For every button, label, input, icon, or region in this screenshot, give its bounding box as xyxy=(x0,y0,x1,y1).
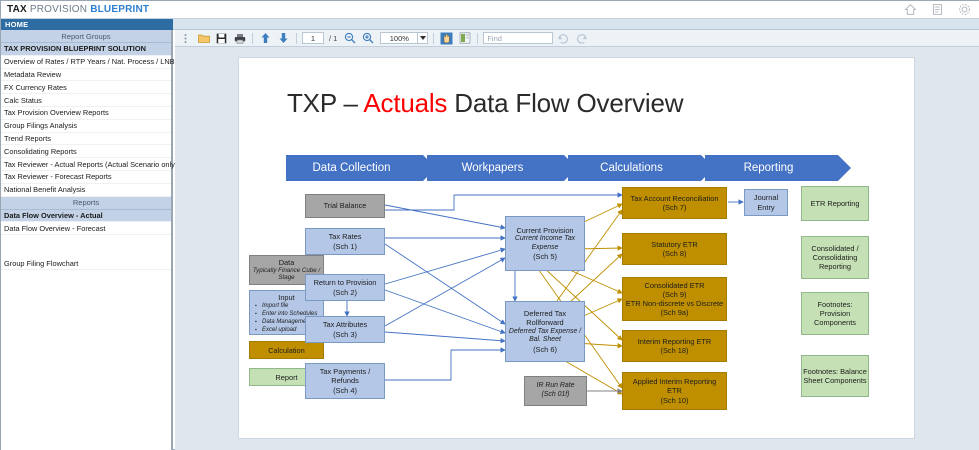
node-label: Deferred Tax xyxy=(524,309,566,318)
legend-input-bullet-0: Import file xyxy=(262,303,323,311)
node-tax-rates[interactable]: Tax Rates (Sch 1) xyxy=(305,228,385,255)
search-input[interactable]: Find xyxy=(483,32,553,44)
report-icon[interactable] xyxy=(931,3,944,16)
sidebar-item-extra-0[interactable]: Group Filing Flowchart xyxy=(1,257,171,270)
node-label: Tax Attributes xyxy=(323,320,367,329)
node-consolidated-consolidating-reporting[interactable]: Consolidated / Consolidating Reporting xyxy=(801,236,869,279)
node-label: Consolidated ETR xyxy=(645,281,705,290)
report-page: TXP – Actuals Data Flow Overview Data Co… xyxy=(238,57,915,439)
pan-hand-icon[interactable] xyxy=(439,31,454,45)
sidebar-item-group-10[interactable]: Tax Reviewer - Forecast Reports xyxy=(1,171,171,184)
node-italic-2: Bal. Sheet xyxy=(529,336,561,345)
node-label: Return to Provision xyxy=(314,278,377,287)
report-groups-header: Report Groups xyxy=(1,30,171,43)
find-prev-icon[interactable] xyxy=(574,31,589,45)
node-sublabel: (Sch 3) xyxy=(333,330,357,339)
toolbar-separator-3 xyxy=(433,33,434,44)
slide-title-post: Data Flow Overview xyxy=(447,88,683,118)
sidebar-item-group-6[interactable]: Group Filings Analysis xyxy=(1,120,171,133)
report-groups-list: TAX PROVISION BLUEPRINT SOLUTIONOverview… xyxy=(1,43,171,197)
node-ir-run-rate[interactable]: IR Run Rate (Sch 01f) xyxy=(524,376,587,406)
node-applied-interim-reporting-etr[interactable]: Applied Interim Reporting ETR (Sch 10) xyxy=(622,372,727,410)
zoom-dropdown-icon[interactable] xyxy=(418,32,428,44)
sidebar-spacer xyxy=(1,235,171,257)
toolbar-separator-4 xyxy=(477,33,478,44)
slide-title: TXP – Actuals Data Flow Overview xyxy=(287,88,683,119)
page-up-icon[interactable] xyxy=(258,31,273,45)
zoom-level-select[interactable]: 100% xyxy=(380,32,418,44)
toolbar-separator-2 xyxy=(296,33,297,44)
brand-blueprint: BLUEPRINT xyxy=(90,4,149,15)
node-sublabel: (Sch 5) xyxy=(533,252,557,261)
node-label-2: ETR xyxy=(667,386,682,395)
sidebar-item-label: Calc Status xyxy=(4,96,42,105)
print-icon[interactable] xyxy=(232,31,247,45)
node-label: Tax Account Reconciliation xyxy=(631,194,719,203)
phase-label: Workpapers xyxy=(462,162,524,174)
legend-calculation: Calculation xyxy=(249,341,324,359)
node-label: Current Provision xyxy=(516,226,573,235)
toolbar-separator-1 xyxy=(252,33,253,44)
node-sublabel: (Sch 1) xyxy=(333,242,357,251)
title-bar: TAX PROVISION BLUEPRINT xyxy=(1,1,979,19)
sidebar: Report Groups TAX PROVISION BLUEPRINT SO… xyxy=(1,30,173,450)
phase-label: Data Collection xyxy=(313,162,391,174)
node-interim-reporting-etr[interactable]: Interim Reporting ETR (Sch 18) xyxy=(622,330,727,362)
node-sublabel: (Sch 8) xyxy=(663,249,687,258)
sidebar-item-group-9[interactable]: Tax Reviewer - Actual Reports (Actual Sc… xyxy=(1,158,171,171)
sidebar-item-group-11[interactable]: National Benefit Analysis xyxy=(1,184,171,197)
sidebar-item-group-0[interactable]: TAX PROVISION BLUEPRINT SOLUTION xyxy=(1,43,171,56)
node-label-2: Rollforward xyxy=(526,318,563,327)
node-deferred-tax-rollforward[interactable]: Deferred Tax Rollforward Deferred Tax Ex… xyxy=(505,301,585,362)
node-label: Footnotes: xyxy=(818,300,853,309)
node-tax-payments-refunds[interactable]: Tax Payments / Refunds (Sch 4) xyxy=(305,363,385,399)
brand-tax: TAX xyxy=(7,4,27,15)
node-italic-1: Deferred Tax Expense / xyxy=(509,328,581,337)
node-sublabel: (Sch 10) xyxy=(661,396,689,405)
phase-banner: Data Collection Workpapers Calculations … xyxy=(286,155,842,181)
node-sublabel-2: (Sch 9a) xyxy=(661,308,689,317)
sidebar-item-label: Metadata Review xyxy=(4,70,61,79)
node-label: Tax Rates xyxy=(329,232,362,241)
sidebar-item-label: TAX PROVISION BLUEPRINT SOLUTION xyxy=(4,44,146,53)
home-icon[interactable] xyxy=(904,3,917,16)
node-current-provision[interactable]: Current Provision Current Income Tax Exp… xyxy=(505,216,585,271)
node-italic-1: Current Income Tax xyxy=(515,235,575,244)
node-label-2: ETR Non-discrete vs Discrete xyxy=(626,299,723,308)
export-icon[interactable] xyxy=(457,31,472,45)
node-etr-reporting[interactable]: ETR Reporting xyxy=(801,186,869,221)
sidebar-item-label: Tax Reviewer - Forecast Reports xyxy=(4,172,112,181)
phase-reporting: Reporting xyxy=(705,155,838,181)
sidebar-item-report-0[interactable]: Data Flow Overview - Actual xyxy=(1,210,171,223)
sidebar-item-label: Consolidating Reports xyxy=(4,147,77,156)
sidebar-item-group-1[interactable]: Overview of Rates / RTP Years / Nat. Pro… xyxy=(1,56,171,69)
node-label: Applied Interim Reporting xyxy=(633,377,716,386)
node-label-3: Reporting xyxy=(819,262,851,271)
application-window: TAX PROVISION BLUEPRINT HOME Report Grou… xyxy=(0,0,979,450)
slide-title-pre: TXP – xyxy=(287,88,363,118)
sidebar-item-label: Group Filings Analysis xyxy=(4,121,77,130)
slide-title-highlight: Actuals xyxy=(363,88,447,118)
brand-provision: PROVISION xyxy=(30,4,87,15)
legend-calculation-title: Calculation xyxy=(268,346,305,355)
node-journal-entry[interactable]: Journal Entry xyxy=(744,189,788,216)
node-sublabel: (Sch 6) xyxy=(533,345,557,354)
sidebar-item-label: Data Flow Overview - Actual xyxy=(4,211,103,220)
node-statutory-etr[interactable]: Statutory ETR (Sch 8) xyxy=(622,233,727,265)
sidebar-item-label: Tax Reviewer - Actual Reports (Actual Sc… xyxy=(4,160,177,169)
node-tax-account-reconciliation[interactable]: Tax Account Reconciliation (Sch 7) xyxy=(622,187,727,219)
node-footnotes-balance-sheet-components[interactable]: Footnotes: Balance Sheet Components xyxy=(801,355,869,397)
save-icon[interactable] xyxy=(214,31,229,45)
sidebar-item-label: Tax Provision Overview Reports xyxy=(4,108,109,117)
node-italic-2: (Sch 01f) xyxy=(542,391,570,400)
sidebar-item-label: Data Flow Overview - Forecast xyxy=(4,224,105,233)
sidebar-item-group-5[interactable]: Tax Provision Overview Reports xyxy=(1,107,171,120)
sidebar-item-group-3[interactable]: FX Currency Rates xyxy=(1,81,171,94)
node-label-2: Sheet Components xyxy=(803,376,866,385)
legend-data-title: Data xyxy=(250,256,323,267)
node-return-to-provision[interactable]: Return to Provision (Sch 2) xyxy=(305,274,385,301)
node-trial-balance[interactable]: Trial Balance xyxy=(305,194,385,218)
zoom-in-icon[interactable] xyxy=(360,31,375,45)
phase-data-collection: Data Collection xyxy=(286,155,423,181)
toolbar-grip-icon xyxy=(178,31,193,45)
phase-workpapers: Workpapers xyxy=(427,155,564,181)
report-viewport: TXP – Actuals Data Flow Overview Data Co… xyxy=(175,47,979,450)
settings-icon[interactable] xyxy=(958,3,971,16)
phase-calculations: Calculations xyxy=(568,155,701,181)
node-italic-2: Expense xyxy=(532,244,559,253)
sidebar-item-report-1[interactable]: Data Flow Overview - Forecast xyxy=(1,222,171,235)
phase-label: Calculations xyxy=(600,162,663,174)
sidebar-item-label: FX Currency Rates xyxy=(4,83,67,92)
node-consolidated-etr[interactable]: Consolidated ETR (Sch 9) ETR Non-discret… xyxy=(622,277,727,321)
node-footnotes-provision-components[interactable]: Footnotes: Provision Components xyxy=(801,292,869,335)
sidebar-item-label: Trend Reports xyxy=(4,134,51,143)
node-label: ETR Reporting xyxy=(811,199,860,208)
node-label-2: Provision xyxy=(820,309,850,318)
reports-extra-list: Group Filing Flowchart xyxy=(1,257,171,270)
open-folder-icon[interactable] xyxy=(196,31,211,45)
node-label: Statutory ETR xyxy=(651,240,697,249)
page-total-label: / 1 xyxy=(327,34,339,43)
sidebar-item-label: National Benefit Analysis xyxy=(4,185,85,194)
sidebar-item-group-8[interactable]: Consolidating Reports xyxy=(1,145,171,158)
document-toolbar: 1 / 1 100% Find xyxy=(175,30,979,47)
node-label-2: Consolidating xyxy=(813,253,858,262)
node-label: Footnotes: Balance xyxy=(803,367,867,376)
sidebar-item-label: Group Filing Flowchart xyxy=(4,259,78,268)
node-label: Tax Payments / xyxy=(320,367,371,376)
reports-header: Reports xyxy=(1,197,171,210)
phase-label: Reporting xyxy=(744,162,794,174)
app-brand: TAX PROVISION BLUEPRINT xyxy=(1,4,149,15)
node-sublabel: (Sch 18) xyxy=(661,346,689,355)
node-label-2: Refunds xyxy=(331,376,359,385)
node-sublabel: (Sch 4) xyxy=(333,386,357,395)
reports-list: Data Flow Overview - ActualData Flow Ove… xyxy=(1,210,171,236)
node-label-3: Components xyxy=(814,318,856,327)
node-tax-attributes[interactable]: Tax Attributes (Sch 3) xyxy=(305,316,385,343)
node-label: Journal xyxy=(754,193,778,202)
node-sublabel: (Sch 9) xyxy=(663,290,687,299)
sidebar-item-group-7[interactable]: Trend Reports xyxy=(1,133,171,146)
page-number-input[interactable]: 1 xyxy=(302,32,324,44)
zoom-out-icon[interactable] xyxy=(342,31,357,45)
node-label: Trial Balance xyxy=(324,201,367,210)
node-label: Consolidated / xyxy=(811,244,858,253)
sidebar-item-group-4[interactable]: Calc Status xyxy=(1,94,171,107)
find-next-icon[interactable] xyxy=(556,31,571,45)
node-sublabel: (Sch 7) xyxy=(663,203,687,212)
title-bar-icons xyxy=(904,3,979,16)
node-sublabel: (Sch 2) xyxy=(333,288,357,297)
sidebar-item-group-2[interactable]: Metadata Review xyxy=(1,69,171,82)
node-label-2: Entry xyxy=(757,203,774,212)
node-label: Interim Reporting ETR xyxy=(638,337,712,346)
page-down-icon[interactable] xyxy=(276,31,291,45)
sidebar-item-label: Overview of Rates / RTP Years / Nat. Pro… xyxy=(4,57,175,66)
tab-home[interactable]: HOME xyxy=(1,19,173,30)
legend-report-title: Report xyxy=(275,373,297,382)
ribbon-strip xyxy=(173,19,979,30)
node-italic-1: IR Run Rate xyxy=(537,382,575,391)
